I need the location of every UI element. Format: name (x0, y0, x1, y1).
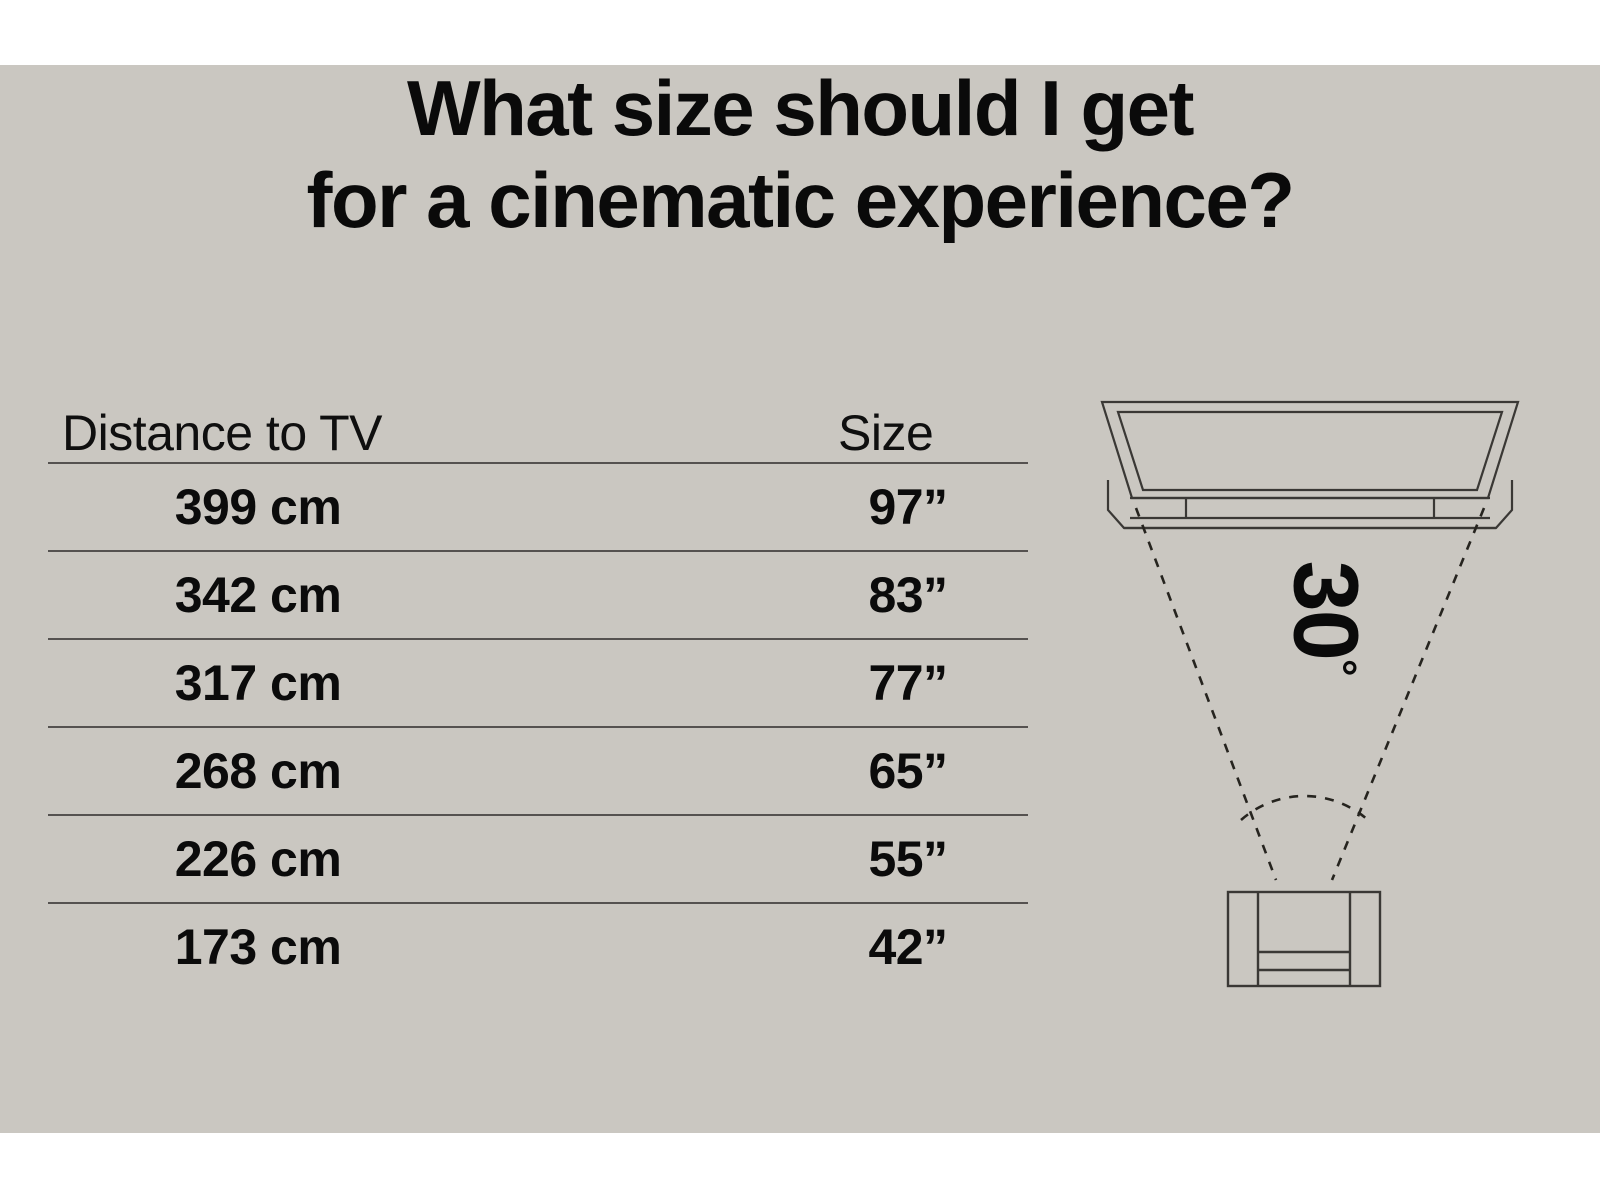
cell-size: 55” (788, 830, 1028, 888)
table-row: 268 cm 65” (48, 726, 1028, 814)
title-line-1: What size should I get (407, 64, 1193, 152)
tv-base-slab (1108, 480, 1512, 528)
cell-size: 42” (788, 918, 1028, 976)
size-distance-table: Distance to TV Size 399 cm 97” 342 cm 83… (48, 372, 1028, 990)
cell-size: 77” (788, 654, 1028, 712)
table-row: 317 cm 77” (48, 638, 1028, 726)
degree-icon: ° (1316, 659, 1365, 675)
cell-distance: 317 cm (48, 654, 468, 712)
cell-size: 97” (788, 478, 1028, 536)
angle-arc (1241, 796, 1368, 820)
armchair-outer (1228, 892, 1380, 986)
table-row: 173 cm 42” (48, 902, 1028, 990)
table-row: 342 cm 83” (48, 550, 1028, 638)
cell-distance: 268 cm (48, 742, 468, 800)
cell-distance: 399 cm (48, 478, 468, 536)
angle-value: 30 (1274, 561, 1376, 659)
tv-screen-inner (1118, 412, 1502, 490)
page-title: What size should I get for a cinematic e… (0, 62, 1600, 246)
table-row: 226 cm 55” (48, 814, 1028, 902)
table-row: 399 cm 97” (48, 462, 1028, 550)
angle-label: 30° (1272, 561, 1377, 675)
tv-screen-outer (1102, 402, 1518, 498)
title-line-2: for a cinematic experience? (0, 154, 1600, 246)
column-header-distance: Distance to TV (62, 404, 382, 462)
cell-size: 83” (788, 566, 1028, 624)
infographic-canvas: What size should I get for a cinematic e… (0, 0, 1600, 1200)
cell-distance: 173 cm (48, 918, 468, 976)
cell-distance: 226 cm (48, 830, 468, 888)
viewing-angle-diagram (1080, 380, 1540, 1000)
column-header-size: Size (838, 404, 933, 462)
cell-distance: 342 cm (48, 566, 468, 624)
cell-size: 65” (788, 742, 1028, 800)
table-header-row: Distance to TV Size (48, 372, 1028, 462)
sightline-left (1136, 508, 1276, 880)
